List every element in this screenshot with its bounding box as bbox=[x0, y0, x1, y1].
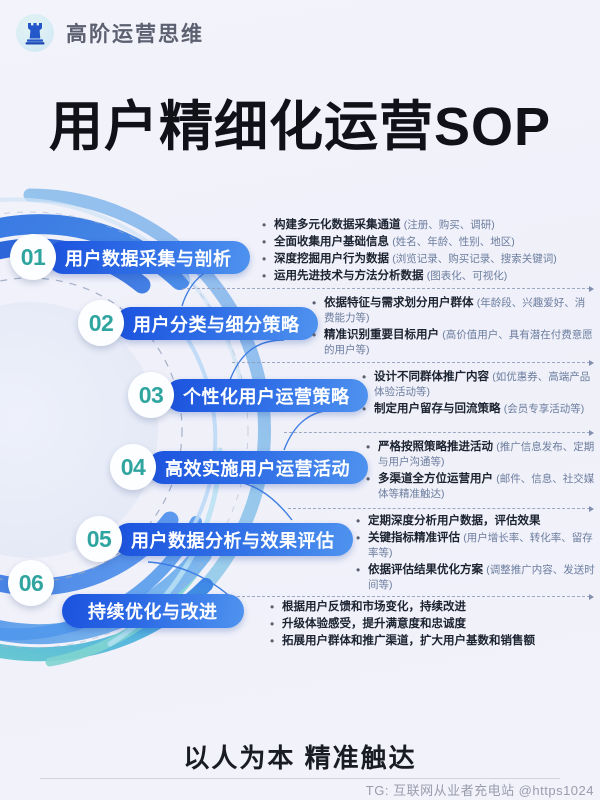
separator-3 bbox=[284, 432, 590, 433]
step-bullets-06: • 根据用户反馈和市场变化，持续改进 • 升级体验感受，提升满意度和忠诚度 • … bbox=[270, 600, 596, 651]
chess-rook-icon bbox=[16, 14, 54, 52]
bullet-item: • 严格按照策略推进活动 (推广信息发布、定期与用户沟通等) bbox=[366, 440, 596, 470]
bullet-marker: • bbox=[356, 531, 368, 546]
bullet-marker: • bbox=[262, 235, 274, 250]
step-number-badge-03: 03 bbox=[128, 372, 174, 418]
bullet-text: 定期深度分析用户数据，评估效果 bbox=[368, 514, 541, 529]
separator-4 bbox=[288, 508, 590, 509]
page-title: 用户精细化运营SOP bbox=[0, 82, 600, 161]
bullet-item: • 根据用户反馈和市场变化，持续改进 bbox=[270, 600, 596, 615]
step-label-row-06[interactable]: 持续优化与改进 bbox=[62, 594, 244, 628]
step-number-badge-04: 04 bbox=[110, 444, 156, 490]
watermark-text: TG: 互联网从业者充电站 @https1024 bbox=[366, 780, 594, 799]
brand-header: 高阶运营思维 bbox=[16, 14, 204, 52]
separator-1 bbox=[182, 288, 590, 289]
bullet-marker: • bbox=[262, 218, 274, 233]
bullet-item: • 升级体验感受，提升满意度和忠诚度 bbox=[270, 617, 596, 632]
footer-slogan: 以人为本 精准触达 bbox=[0, 738, 600, 775]
bullet-marker: • bbox=[356, 514, 368, 529]
bullet-item: • 多渠道全方位运营用户 (邮件、信息、社交媒体等精准触达) bbox=[366, 472, 596, 502]
footer-divider bbox=[40, 778, 560, 779]
bullet-item: • 构建多元化数据采集通道 (注册、购买、调研) bbox=[262, 218, 594, 233]
bullet-item: • 制定用户留存与回流策略 (会员专享活动等) bbox=[362, 402, 596, 417]
separator-5 bbox=[232, 596, 590, 597]
bullet-text: 运用先进技术与方法分析数据 (图表化、可视化) bbox=[274, 269, 507, 284]
step-bullets-03: • 设计不同群体推广内容 (如优惠券、高端产品体验活动等) • 制定用户留存与回… bbox=[362, 370, 596, 419]
step-number-badge-05: 05 bbox=[76, 516, 122, 562]
bullet-text: 依据特征与需求划分用户群体 (年龄段、兴趣爱好、消费能力等) bbox=[324, 296, 594, 326]
bullet-marker: • bbox=[270, 617, 282, 632]
bullet-marker: • bbox=[362, 370, 374, 385]
bullet-item: • 依据评估结果优化方案 (调整推广内容、发送时间等) bbox=[356, 563, 596, 593]
bullet-text: 拓展用户群体和推广渠道，扩大用户基数和销售额 bbox=[282, 634, 535, 649]
bullet-text: 设计不同群体推广内容 (如优惠券、高端产品体验活动等) bbox=[374, 370, 596, 400]
bullet-text: 升级体验感受，提升满意度和忠诚度 bbox=[282, 617, 466, 632]
bullet-marker: • bbox=[312, 328, 324, 343]
bullet-marker: • bbox=[366, 472, 378, 487]
step-row-01[interactable]: 01 用户数据采集与剖析 bbox=[10, 234, 250, 280]
bullet-item: • 拓展用户群体和推广渠道，扩大用户基数和销售额 bbox=[270, 634, 596, 649]
step-number-badge-01: 01 bbox=[10, 234, 56, 280]
bullet-marker: • bbox=[270, 634, 282, 649]
bullet-item: • 依据特征与需求划分用户群体 (年龄段、兴趣爱好、消费能力等) bbox=[312, 296, 594, 326]
bullet-text: 根据用户反馈和市场变化，持续改进 bbox=[282, 600, 466, 615]
bullet-item: • 全面收集用户基础信息 (姓名、年龄、性别、地区) bbox=[262, 235, 594, 250]
step-label-pill-02[interactable]: 用户分类与细分策略 bbox=[115, 307, 318, 340]
bullet-text: 严格按照策略推进活动 (推广信息发布、定期与用户沟通等) bbox=[378, 440, 596, 470]
step-row-02[interactable]: 02 用户分类与细分策略 bbox=[78, 300, 318, 346]
bullet-text: 制定用户留存与回流策略 (会员专享活动等) bbox=[374, 402, 584, 417]
bullet-marker: • bbox=[262, 269, 274, 284]
step-bullets-01: • 构建多元化数据采集通道 (注册、购买、调研) • 全面收集用户基础信息 (姓… bbox=[262, 218, 594, 286]
step-number-badge-02: 02 bbox=[78, 300, 124, 346]
bullet-marker: • bbox=[312, 296, 324, 311]
bullet-item: • 定期深度分析用户数据，评估效果 bbox=[356, 514, 596, 529]
step-label-pill-01[interactable]: 用户数据采集与剖析 bbox=[47, 241, 250, 274]
separator-2 bbox=[232, 362, 590, 363]
step-label-pill-03[interactable]: 个性化用户运营策略 bbox=[165, 379, 368, 412]
bullet-marker: • bbox=[356, 563, 368, 578]
step-row-03[interactable]: 03 个性化用户运营策略 bbox=[128, 372, 368, 418]
step-bullets-04: • 严格按照策略推进活动 (推广信息发布、定期与用户沟通等) • 多渠道全方位运… bbox=[366, 440, 596, 504]
bullet-text: 关键指标精准评估 (用户增长率、转化率、留存率等) bbox=[368, 531, 596, 561]
step-label-pill-06[interactable]: 持续优化与改进 bbox=[62, 594, 244, 628]
step-bullets-02: • 依据特征与需求划分用户群体 (年龄段、兴趣爱好、消费能力等) • 精准识别重… bbox=[312, 296, 594, 360]
step-number-badge-06: 06 bbox=[8, 560, 54, 606]
step-bullets-05: • 定期深度分析用户数据，评估效果 • 关键指标精准评估 (用户增长率、转化率、… bbox=[356, 514, 596, 595]
bullet-text: 构建多元化数据采集通道 (注册、购买、调研) bbox=[274, 218, 495, 233]
bullet-text: 全面收集用户基础信息 (姓名、年龄、性别、地区) bbox=[274, 235, 515, 250]
bullet-text: 深度挖掘用户行为数据 (浏览记录、购买记录、搜索关键词) bbox=[274, 252, 557, 267]
brand-name: 高阶运营思维 bbox=[66, 18, 204, 48]
bullet-item: • 运用先进技术与方法分析数据 (图表化、可视化) bbox=[262, 269, 594, 284]
bullet-marker: • bbox=[366, 440, 378, 455]
bullet-marker: • bbox=[270, 600, 282, 615]
bullet-item: • 精准识别重要目标用户 (高价值用户、具有潜在付费意愿的用户等) bbox=[312, 328, 594, 358]
bullet-marker: • bbox=[362, 402, 374, 417]
bullet-text: 依据评估结果优化方案 (调整推广内容、发送时间等) bbox=[368, 563, 596, 593]
step-label-pill-05[interactable]: 用户数据分析与效果评估 bbox=[113, 523, 353, 556]
bullet-marker: • bbox=[262, 252, 274, 267]
bullet-item: • 关键指标精准评估 (用户增长率、转化率、留存率等) bbox=[356, 531, 596, 561]
step-row-04[interactable]: 04 高效实施用户运营活动 bbox=[110, 444, 368, 490]
bullet-text: 多渠道全方位运营用户 (邮件、信息、社交媒体等精准触达) bbox=[378, 472, 596, 502]
bullet-item: • 设计不同群体推广内容 (如优惠券、高端产品体验活动等) bbox=[362, 370, 596, 400]
step-label-pill-04[interactable]: 高效实施用户运营活动 bbox=[147, 451, 368, 484]
step-row-05[interactable]: 05 用户数据分析与效果评估 bbox=[76, 516, 353, 562]
bullet-text: 精准识别重要目标用户 (高价值用户、具有潜在付费意愿的用户等) bbox=[324, 328, 594, 358]
bullet-item: • 深度挖掘用户行为数据 (浏览记录、购买记录、搜索关键词) bbox=[262, 252, 594, 267]
infographic-page: 高阶运营思维 用户精细化运营SOP bbox=[0, 0, 600, 800]
step-row-06[interactable]: 06 bbox=[8, 560, 54, 606]
